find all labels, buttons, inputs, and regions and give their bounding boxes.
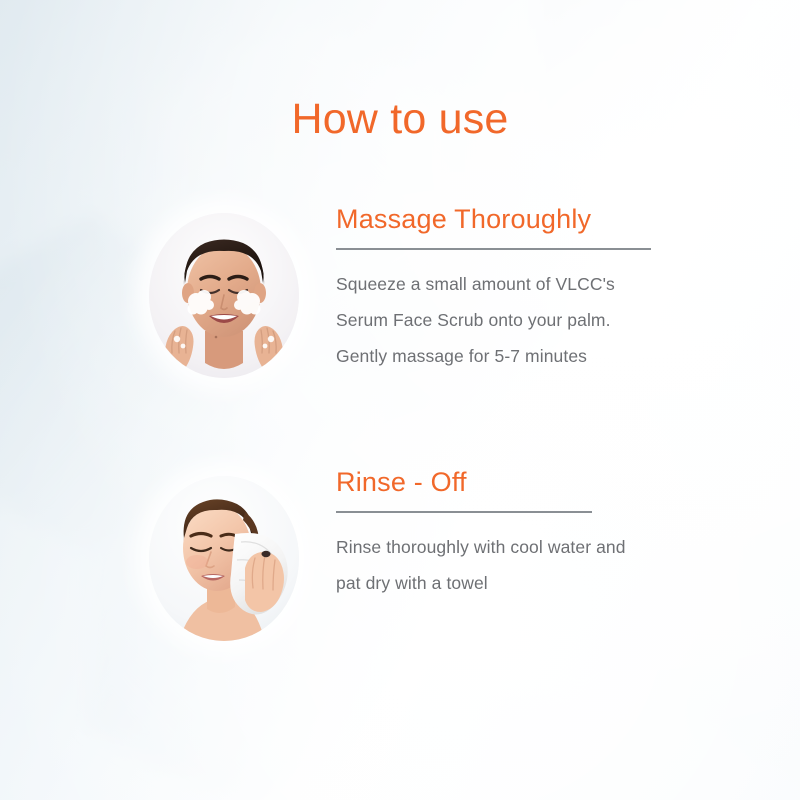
- woman-patting-face-dry-with-towel-photo: [149, 476, 299, 641]
- step-description-line: Rinse thoroughly with cool water and: [336, 529, 766, 565]
- step-photo-container: [145, 468, 303, 648]
- step-description-line: pat dry with a towel: [336, 565, 766, 601]
- step-massage-thoroughly: Massage Thoroughly Squeeze a small amoun…: [0, 205, 800, 405]
- step-description: Squeeze a small amount of VLCC's Serum F…: [336, 266, 766, 374]
- step-divider: [336, 248, 651, 250]
- step-divider: [336, 511, 592, 513]
- step-heading: Rinse - Off: [336, 468, 766, 498]
- step-heading: Massage Thoroughly: [336, 205, 766, 235]
- step-rinse-off: Rinse - Off Rinse thoroughly with cool w…: [0, 468, 800, 668]
- page-title: How to use: [0, 98, 800, 141]
- woman-massaging-face-with-foam-photo: [149, 213, 299, 378]
- step-description-line: Squeeze a small amount of VLCC's: [336, 266, 766, 302]
- step-text-block: Rinse - Off Rinse thoroughly with cool w…: [336, 468, 766, 601]
- step-text-block: Massage Thoroughly Squeeze a small amoun…: [336, 205, 766, 374]
- step-description: Rinse thoroughly with cool water and pat…: [336, 529, 766, 601]
- step-description-line: Gently massage for 5-7 minutes: [336, 338, 766, 374]
- step-description-line: Serum Face Scrub onto your palm.: [336, 302, 766, 338]
- how-to-use-infographic: How to use: [0, 0, 800, 800]
- step-photo-container: [145, 205, 303, 385]
